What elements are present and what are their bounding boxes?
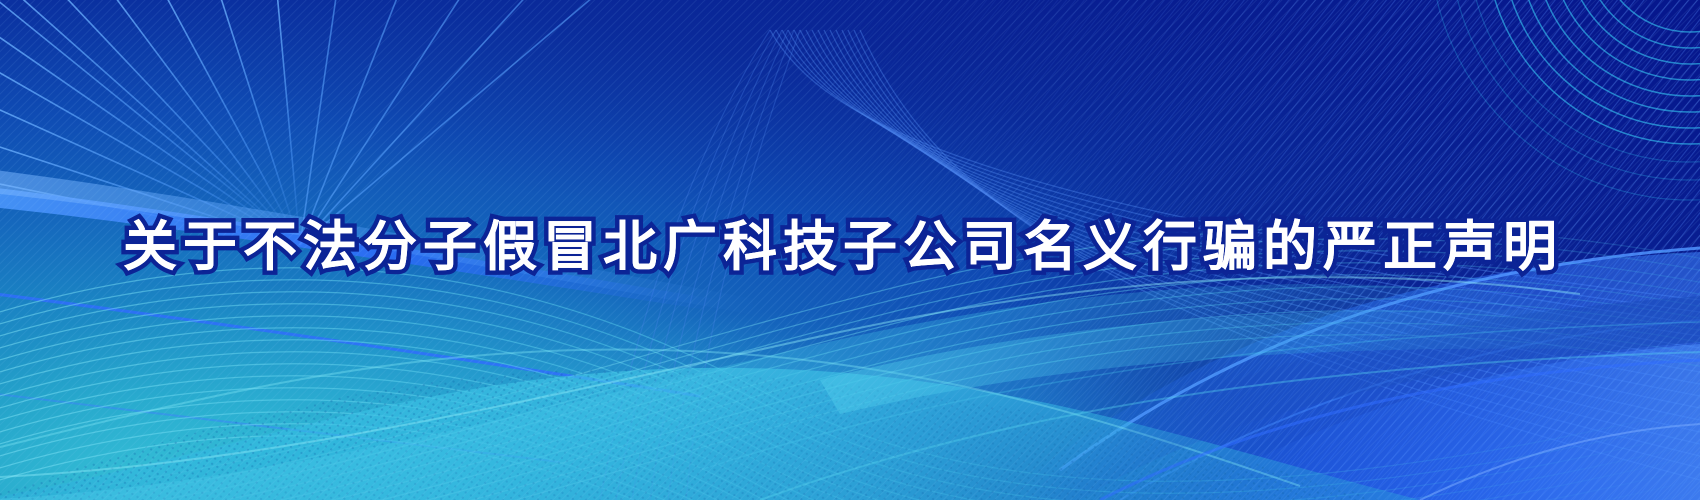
announcement-banner: 关于不法分子假冒北广科技子公司名义行骗的严正声明 关于不法分子假冒北广科技子公司… bbox=[0, 0, 1700, 500]
global-diagonal-film bbox=[0, 0, 1700, 500]
